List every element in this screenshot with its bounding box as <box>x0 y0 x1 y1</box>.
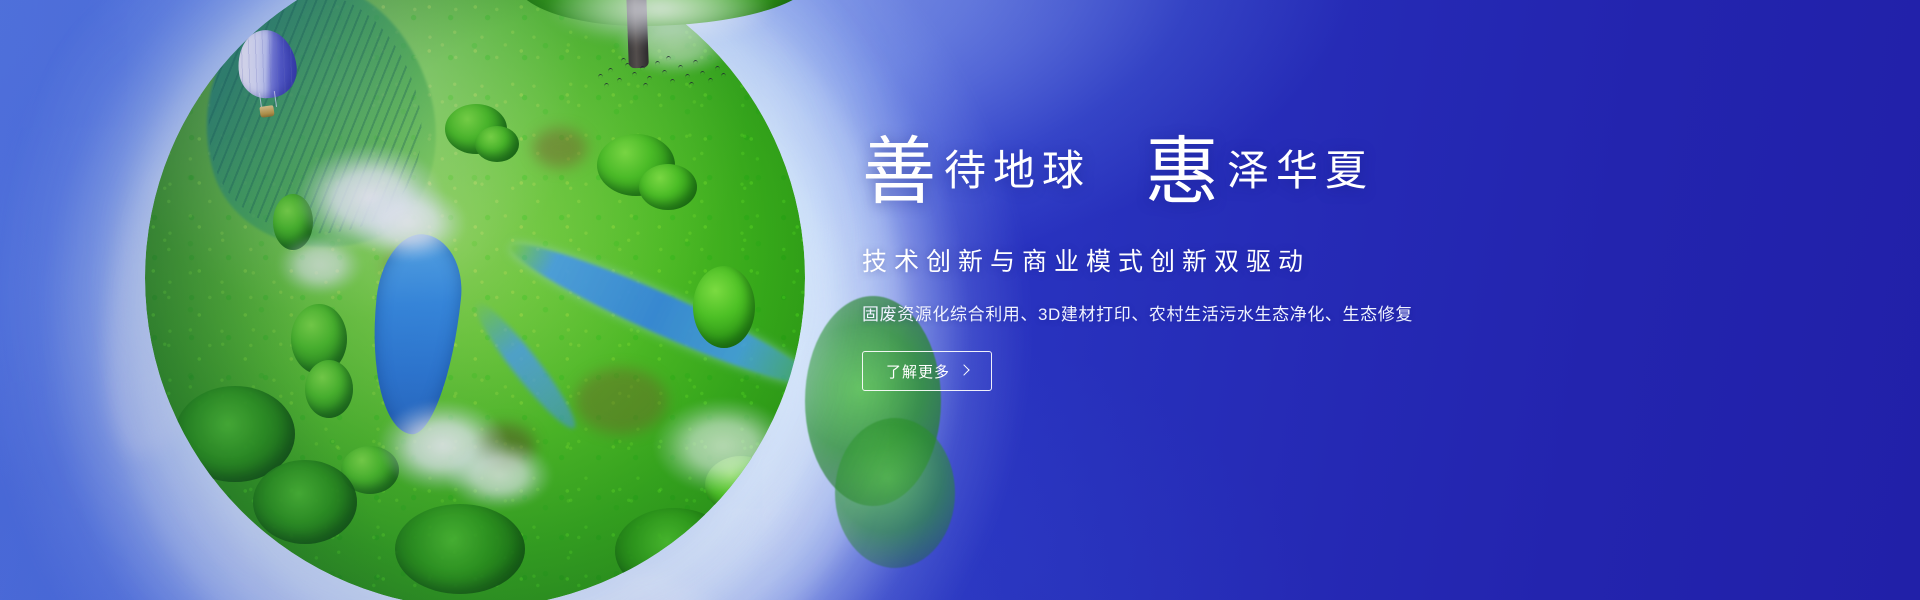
hero-banner: 善待地球惠泽华夏 技术创新与商业模式创新双驱动 固废资源化综合利用、3D建材打印… <box>0 0 1920 600</box>
vignette-overlay <box>0 0 1920 600</box>
